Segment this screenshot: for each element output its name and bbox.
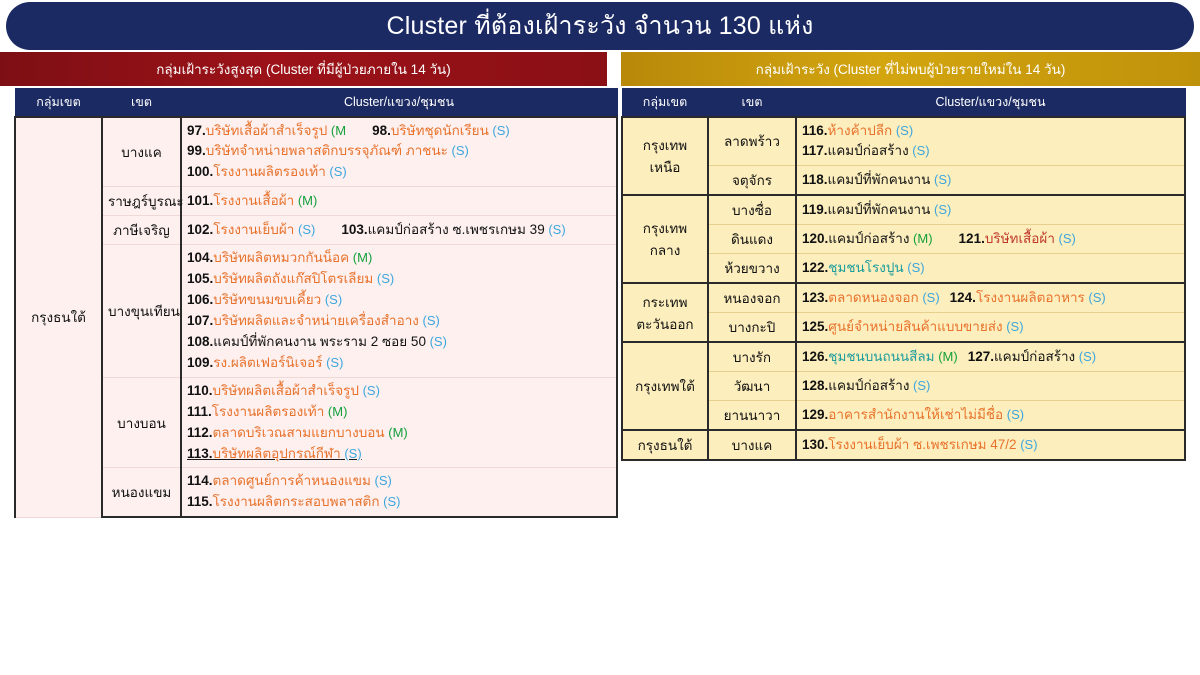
cluster-name: บริษัทชุดนักเรียน [391, 123, 489, 138]
banner-high-surveillance-label: กลุ่มเฝ้าระวังสูงสุด (Cluster ที่มีผู้ป่… [156, 58, 451, 80]
district-cell: ห้วยขวาง [708, 254, 796, 284]
cluster-entry: 111.โรงงานผลิตรองเท้า (M) [187, 404, 347, 419]
severity-badge: (S) [1017, 437, 1038, 452]
cluster-number: 111. [187, 404, 212, 419]
district-group-cell: กรุงเทพเหนือ [622, 117, 708, 196]
cluster-number: 101. [187, 193, 213, 208]
cluster-number: 121. [959, 231, 985, 246]
cluster-cell: 110.บริษัทผลิตเสื้อผ้าสำเร็จรูป (S)111.โ… [181, 377, 617, 468]
cluster-line: 107.บริษัทผลิตและจำหน่ายเครื่องสำอาง (S) [187, 311, 611, 332]
district-cell: หนองแขม [102, 468, 181, 517]
district-group-cell: กรุงธนใต้ [622, 430, 708, 460]
cluster-name: แคมป์ก่อสร้าง [828, 143, 909, 158]
cluster-number: 116. [802, 123, 828, 138]
cluster-name: บริษัทผลิตถังแก๊สปิโตรเลียม [213, 271, 373, 286]
cluster-line: 108.แคมป์ที่พักคนงาน พระราม 2 ซอย 50 (S) [187, 332, 611, 353]
cluster-number: 108. [187, 334, 213, 349]
severity-badge: (S) [426, 334, 447, 349]
cluster-name: ห้างค้าปลีก [828, 123, 893, 138]
cluster-name: โรงงานผลิตรองเท้า [212, 404, 325, 419]
cluster-entry: 119.แคมป์ที่พักคนงาน (S) [802, 202, 951, 217]
table-row: กรุงธนใต้บางแค97.บริษัทเสื้อผ้าสำเร็จรูป… [15, 117, 617, 187]
district-cell: บางบอน [102, 377, 181, 468]
cluster-cell: 101.โรงงานเสื้อผ้า (M) [181, 187, 617, 216]
cluster-cell: 116.ห้างค้าปลีก (S)117.แคมป์ก่อสร้าง (S) [796, 117, 1185, 166]
severity-badge: (S) [904, 260, 925, 275]
cluster-line: 114.ตลาดศูนย์การค้าหนองแขม (S) [187, 471, 611, 492]
cluster-name: แคมป์ที่พักคนงาน [828, 172, 931, 187]
severity-badge: (M) [349, 250, 372, 265]
cluster-number: 126. [802, 349, 828, 364]
cluster-entry: 108.แคมป์ที่พักคนงาน พระราม 2 ซอย 50 (S) [187, 334, 447, 349]
cluster-entry: 121.บริษัทเสื้อผ้า (S) [959, 231, 1076, 246]
cluster-line: 120.แคมป์ก่อสร้าง (M)121.บริษัทเสื้อผ้า … [802, 229, 1179, 250]
surveillance-table: กลุ่มเขต เขต Cluster/แขวง/ชุมชน กรุงเทพเ… [621, 88, 1186, 461]
severity-badge: (S) [489, 123, 510, 138]
cluster-number: 125. [802, 319, 828, 334]
cluster-entry: 115.โรงงานผลิตกระสอบพลาสติก (S) [187, 494, 400, 509]
cluster-number: 109. [187, 355, 213, 370]
cluster-name: บริษัทเสื้อผ้าสำเร็จรูป [206, 123, 328, 138]
severity-badge: (S) [1003, 407, 1024, 422]
cluster-cell: 123.ตลาดหนองจอก (S)124.โรงงานผลิตอาหาร (… [796, 283, 1185, 313]
cluster-entry: 104.บริษัทผลิตหมวกกันน็อค (M) [187, 250, 372, 265]
severity-badge: (S) [909, 143, 930, 158]
severity-badge: (S) [545, 222, 566, 237]
table-row: ราษฎร์บูรณะ101.โรงงานเสื้อผ้า (M) [15, 187, 617, 216]
cluster-entry: 103.แคมป์ก่อสร้าง ซ.เพชรเกษม 39 (S) [341, 222, 565, 237]
cluster-name: แคมป์ที่พักคนงาน [828, 202, 931, 217]
cluster-entry: 128.แคมป์ก่อสร้าง (S) [802, 378, 930, 393]
cluster-number: 128. [802, 378, 828, 393]
cluster-cell: 119.แคมป์ที่พักคนงาน (S) [796, 195, 1185, 225]
cluster-line: 129.อาคารสำนักงานให้เช่าไม่มีชื่อ (S) [802, 405, 1179, 426]
cluster-entry: 118.แคมป์ที่พักคนงาน (S) [802, 172, 951, 187]
cluster-name: โรงงานผลิตอาหาร [976, 290, 1085, 305]
cluster-line: 126.ชุมชนบนถนนสีลม (M)127.แคมป์ก่อสร้าง … [802, 347, 1179, 368]
severity-badge: (M) [909, 231, 932, 246]
severity-badge: (S) [321, 292, 342, 307]
cluster-line: 119.แคมป์ที่พักคนงาน (S) [802, 200, 1179, 221]
severity-badge: (S) [380, 494, 401, 509]
banner-surveillance-label: กลุ่มเฝ้าระวัง (Cluster ที่ไม่พบผู้ป่วยร… [756, 58, 1066, 80]
severity-badge: (S) [419, 313, 440, 328]
cluster-entry: 99.บริษัทจำหน่ายพลาสติกบรรจุภัณฑ์ ภาชนะ … [187, 143, 469, 158]
table-row: กระเทพตะวันออกหนองจอก123.ตลาดหนองจอก (S)… [622, 283, 1185, 313]
cluster-name: ชุมชนบนถนนสีลม [828, 349, 934, 364]
cluster-number: 114. [187, 473, 213, 488]
severity-badge: (M) [294, 193, 317, 208]
severity-badge: (S) [294, 222, 315, 237]
cluster-cell: 102.โรงงานเย็บผ้า (S)103.แคมป์ก่อสร้าง ซ… [181, 216, 617, 245]
banner-divider [607, 52, 621, 86]
cluster-name: แคมป์ก่อสร้าง [994, 349, 1075, 364]
severity-badge: (S) [930, 172, 951, 187]
severity-badge: (S) [326, 164, 347, 179]
banner-high-surveillance: กลุ่มเฝ้าระวังสูงสุด (Cluster ที่มีผู้ป่… [0, 52, 607, 86]
cluster-cell: 130.โรงงานเย็บผ้า ซ.เพชรเกษม 47/2 (S) [796, 430, 1185, 460]
cluster-cell: 126.ชุมชนบนถนนสีลม (M)127.แคมป์ก่อสร้าง … [796, 342, 1185, 372]
cluster-name: โรงงานเย็บผ้า ซ.เพชรเกษม 47/2 [828, 437, 1016, 452]
severity-badge: (M) [935, 349, 958, 364]
table-row: ภาษีเจริญ102.โรงงานเย็บผ้า (S)103.แคมป์ก… [15, 216, 617, 245]
page-title: Cluster ที่ต้องเฝ้าระวัง จำนวน 130 แห่ง [386, 6, 813, 46]
cluster-line: 125.ศูนย์จำหน่ายสินค้าแบบขายส่ง (S) [802, 317, 1179, 338]
cluster-name: อาคารสำนักงานให้เช่าไม่มีชื่อ [828, 407, 1003, 422]
cluster-line: 113.บริษัทผลิตอุปกรณ์กีฬา (S) [187, 444, 611, 465]
table-header-row: กลุ่มเขต เขต Cluster/แขวง/ชุมชน [15, 89, 617, 117]
table-row: กรุงเทพใต้บางรัก126.ชุมชนบนถนนสีลม (M)12… [622, 342, 1185, 372]
district-cell: บางขุนเทียน [102, 245, 181, 378]
cluster-number: 98. [372, 123, 391, 138]
severity-badge: (M) [385, 425, 408, 440]
district-cell: วัฒนา [708, 372, 796, 401]
cluster-cell: 129.อาคารสำนักงานให้เช่าไม่มีชื่อ (S) [796, 401, 1185, 431]
cluster-name: แคมป์ก่อสร้าง [828, 378, 909, 393]
column-header-district: เขต [102, 89, 181, 117]
table-row: กรุงธนใต้บางแค130.โรงงานเย็บผ้า ซ.เพชรเก… [622, 430, 1185, 460]
cluster-line: 116.ห้างค้าปลีก (S) [802, 121, 1179, 142]
cluster-line: 101.โรงงานเสื้อผ้า (M) [187, 191, 611, 212]
cluster-cell: 125.ศูนย์จำหน่ายสินค้าแบบขายส่ง (S) [796, 313, 1185, 343]
cluster-entry: 120.แคมป์ก่อสร้าง (M) [802, 231, 933, 246]
table-row: บางขุนเทียน104.บริษัทผลิตหมวกกันน็อค (M)… [15, 245, 617, 378]
cluster-number: 113. [187, 446, 213, 461]
cluster-entry: 129.อาคารสำนักงานให้เช่าไม่มีชื่อ (S) [802, 407, 1024, 422]
cluster-name: บริษัทผลิตเสื้อผ้าสำเร็จรูป [213, 383, 359, 398]
cluster-entry: 116.ห้างค้าปลีก (S) [802, 123, 913, 138]
cluster-name: โรงงานผลิตกระสอบพลาสติก [213, 494, 380, 509]
district-cell: ยานนาวา [708, 401, 796, 431]
cluster-cell: 104.บริษัทผลิตหมวกกันน็อค (M)105.บริษัทผ… [181, 245, 617, 378]
district-group-cell: กรุงธนใต้ [15, 117, 102, 518]
cluster-entry: 107.บริษัทผลิตและจำหน่ายเครื่องสำอาง (S) [187, 313, 440, 328]
column-header-group: กลุ่มเขต [622, 89, 708, 117]
cluster-number: 110. [187, 383, 213, 398]
cluster-number: 119. [802, 202, 828, 217]
severity-badge: (S) [1085, 290, 1106, 305]
cluster-number: 100. [187, 164, 213, 179]
cluster-number: 123. [802, 290, 828, 305]
cluster-entry: 102.โรงงานเย็บผ้า (S) [187, 222, 315, 237]
cluster-cell: 114.ตลาดศูนย์การค้าหนองแขม (S)115.โรงงาน… [181, 468, 617, 517]
cluster-line: 109.รง.ผลิตเฟอร์นิเจอร์ (S) [187, 353, 611, 374]
cluster-entry: 123.ตลาดหนองจอก (S) [802, 290, 940, 305]
cluster-cell: 128.แคมป์ก่อสร้าง (S) [796, 372, 1185, 401]
cluster-number: 130. [802, 437, 828, 452]
district-cell: ราษฎร์บูรณะ [102, 187, 181, 216]
severity-badge: (S) [322, 355, 343, 370]
cluster-line: 118.แคมป์ที่พักคนงาน (S) [802, 170, 1179, 191]
cluster-number: 129. [802, 407, 828, 422]
cluster-number: 97. [187, 123, 206, 138]
cluster-cell: 120.แคมป์ก่อสร้าง (M)121.บริษัทเสื้อผ้า … [796, 225, 1185, 254]
cluster-name: บริษัทจำหน่ายพลาสติกบรรจุภัณฑ์ ภาชนะ [206, 143, 448, 158]
banner-surveillance: กลุ่มเฝ้าระวัง (Cluster ที่ไม่พบผู้ป่วยร… [621, 52, 1200, 86]
table-header-row: กลุ่มเขต เขต Cluster/แขวง/ชุมชน [622, 89, 1185, 117]
cluster-name: บริษัทผลิตและจำหน่ายเครื่องสำอาง [213, 313, 419, 328]
district-cell: จตุจักร [708, 166, 796, 196]
cluster-entry: 117.แคมป์ก่อสร้าง (S) [802, 143, 930, 158]
cluster-number: 112. [187, 425, 213, 440]
cluster-entry: 130.โรงงานเย็บผ้า ซ.เพชรเกษม 47/2 (S) [802, 437, 1038, 452]
severity-badge: (M) [324, 404, 347, 419]
cluster-line: 115.โรงงานผลิตกระสอบพลาสติก (S) [187, 492, 611, 513]
severity-badge: (S) [371, 473, 392, 488]
district-group-cell: กรุงเทพกลาง [622, 195, 708, 283]
severity-badge: (S) [930, 202, 951, 217]
cluster-name: รง.ผลิตเฟอร์นิเจอร์ [213, 355, 322, 370]
cluster-entry: 112.ตลาดบริเวณสามแยกบางบอน (M) [187, 425, 408, 440]
cluster-name: แคมป์ก่อสร้าง ซ.เพชรเกษม 39 [368, 222, 545, 237]
cluster-name: บริษัทขนมขบเคี้ยว [213, 292, 321, 307]
cluster-number: 107. [187, 313, 213, 328]
table-row: กรุงเทพเหนือลาดพร้าว116.ห้างค้าปลีก (S)1… [622, 117, 1185, 166]
cluster-number: 127. [968, 349, 994, 364]
cluster-name: ศูนย์จำหน่ายสินค้าแบบขายส่ง [828, 319, 1002, 334]
cluster-entry: 100.โรงงานผลิตรองเท้า (S) [187, 164, 347, 179]
district-cell: หนองจอก [708, 283, 796, 313]
severity-badge: (S) [1075, 349, 1096, 364]
cluster-line: 112.ตลาดบริเวณสามแยกบางบอน (M) [187, 423, 611, 444]
cluster-name: ตลาดบริเวณสามแยกบางบอน [213, 425, 385, 440]
district-cell: ภาษีเจริญ [102, 216, 181, 245]
cluster-entry: 105.บริษัทผลิตถังแก๊สปิโตรเลียม (S) [187, 271, 394, 286]
cluster-entry: 110.บริษัทผลิตเสื้อผ้าสำเร็จรูป (S) [187, 383, 380, 398]
cluster-line: 104.บริษัทผลิตหมวกกันน็อค (M) [187, 248, 611, 269]
cluster-name: โรงงานเสื้อผ้า [213, 193, 294, 208]
cluster-number: 102. [187, 222, 213, 237]
district-group-cell: กระเทพตะวันออก [622, 283, 708, 342]
column-header-district: เขต [708, 89, 796, 117]
cluster-entry: 114.ตลาดศูนย์การค้าหนองแขม (S) [187, 473, 392, 488]
cluster-name: ชุมชนโรงปูน [828, 260, 903, 275]
cluster-line: 130.โรงงานเย็บผ้า ซ.เพชรเกษม 47/2 (S) [802, 435, 1179, 456]
cluster-name: บริษัทเสื้อผ้า [985, 231, 1055, 246]
cluster-line: 128.แคมป์ก่อสร้าง (S) [802, 376, 1179, 397]
table-row: บางบอน110.บริษัทผลิตเสื้อผ้าสำเร็จรูป (S… [15, 377, 617, 468]
cluster-name: บริษัทผลิตอุปกรณ์กีฬา [213, 446, 341, 461]
cluster-entry: 106.บริษัทขนมขบเคี้ยว (S) [187, 292, 342, 307]
cluster-entry: 97.บริษัทเสื้อผ้าสำเร็จรูป (M [187, 123, 346, 138]
table-row: กรุงเทพกลางบางซื่อ119.แคมป์ที่พักคนงาน (… [622, 195, 1185, 225]
column-header-group: กลุ่มเขต [15, 89, 102, 117]
cluster-number: 122. [802, 260, 828, 275]
severity-badge: (S) [1003, 319, 1024, 334]
district-cell: บางกะปิ [708, 313, 796, 343]
cluster-line: 100.โรงงานผลิตรองเท้า (S) [187, 162, 611, 183]
high-surveillance-table: กลุ่มเขต เขต Cluster/แขวง/ชุมชน กรุงธนใต… [14, 88, 618, 518]
cluster-name: ตลาดหนองจอก [828, 290, 918, 305]
cluster-number: 99. [187, 143, 206, 158]
severity-badge: (S) [448, 143, 469, 158]
cluster-number: 120. [802, 231, 828, 246]
cluster-line: 111.โรงงานผลิตรองเท้า (M) [187, 402, 611, 423]
district-group-cell: กรุงเทพใต้ [622, 342, 708, 430]
page-title-bar: Cluster ที่ต้องเฝ้าระวัง จำนวน 130 แห่ง [6, 2, 1194, 50]
cluster-line: 110.บริษัทผลิตเสื้อผ้าสำเร็จรูป (S) [187, 381, 611, 402]
severity-badge: (S) [909, 378, 930, 393]
district-cell: บางแค [708, 430, 796, 460]
category-banner-row: กลุ่มเฝ้าระวังสูงสุด (Cluster ที่มีผู้ป่… [0, 52, 1200, 86]
cluster-line: 102.โรงงานเย็บผ้า (S)103.แคมป์ก่อสร้าง ซ… [187, 220, 611, 241]
cluster-entry: 122.ชุมชนโรงปูน (S) [802, 260, 925, 275]
cluster-name: บริษัทผลิตหมวกกันน็อค [213, 250, 349, 265]
cluster-line: 122.ชุมชนโรงปูน (S) [802, 258, 1179, 279]
cluster-name: ตลาดศูนย์การค้าหนองแขม [213, 473, 371, 488]
cluster-number: 118. [802, 172, 828, 187]
column-header-cluster: Cluster/แขวง/ชุมชน [796, 89, 1185, 117]
district-cell: บางซื่อ [708, 195, 796, 225]
severity-badge: (S) [341, 446, 362, 461]
cluster-number: 104. [187, 250, 213, 265]
cluster-entry: 126.ชุมชนบนถนนสีลม (M) [802, 349, 958, 364]
district-cell: บางรัก [708, 342, 796, 372]
cluster-entry: 125.ศูนย์จำหน่ายสินค้าแบบขายส่ง (S) [802, 319, 1024, 334]
severity-badge: (S) [892, 123, 913, 138]
severity-badge: (M [327, 123, 346, 138]
cluster-entry: 101.โรงงานเสื้อผ้า (M) [187, 193, 317, 208]
column-header-cluster: Cluster/แขวง/ชุมชน [181, 89, 617, 117]
cluster-number: 115. [187, 494, 213, 509]
table-row: หนองแขม114.ตลาดศูนย์การค้าหนองแขม (S)115… [15, 468, 617, 517]
cluster-entry: 127.แคมป์ก่อสร้าง (S) [968, 349, 1096, 364]
cluster-number: 103. [341, 222, 367, 237]
cluster-line: 97.บริษัทเสื้อผ้าสำเร็จรูป (M98.บริษัทชุ… [187, 121, 611, 142]
severity-badge: (S) [373, 271, 394, 286]
district-cell: ดินแดง [708, 225, 796, 254]
cluster-entry: 98.บริษัทชุดนักเรียน (S) [372, 123, 510, 138]
cluster-cell: 118.แคมป์ที่พักคนงาน (S) [796, 166, 1185, 196]
cluster-line: 99.บริษัทจำหน่ายพลาสติกบรรจุภัณฑ์ ภาชนะ … [187, 141, 611, 162]
cluster-name: โรงงานผลิตรองเท้า [213, 164, 326, 179]
cluster-line: 105.บริษัทผลิตถังแก๊สปิโตรเลียม (S) [187, 269, 611, 290]
severity-badge: (S) [1055, 231, 1076, 246]
district-cell: ลาดพร้าว [708, 117, 796, 166]
cluster-cell: 122.ชุมชนโรงปูน (S) [796, 254, 1185, 284]
cluster-name: โรงงานเย็บผ้า [213, 222, 294, 237]
cluster-name: แคมป์ก่อสร้าง [828, 231, 909, 246]
cluster-number: 117. [802, 143, 828, 158]
cluster-entry: 124.โรงงานผลิตอาหาร (S) [950, 290, 1106, 305]
cluster-line: 106.บริษัทขนมขบเคี้ยว (S) [187, 290, 611, 311]
cluster-cell: 97.บริษัทเสื้อผ้าสำเร็จรูป (M98.บริษัทชุ… [181, 117, 617, 187]
cluster-number: 105. [187, 271, 213, 286]
cluster-number: 124. [950, 290, 976, 305]
cluster-line: 117.แคมป์ก่อสร้าง (S) [802, 141, 1179, 162]
cluster-name: แคมป์ที่พักคนงาน พระราม 2 ซอย 50 [213, 334, 426, 349]
cluster-line: 123.ตลาดหนองจอก (S)124.โรงงานผลิตอาหาร (… [802, 288, 1179, 309]
cluster-entry: 113.บริษัทผลิตอุปกรณ์กีฬา (S) [187, 446, 362, 461]
cluster-entry: 109.รง.ผลิตเฟอร์นิเจอร์ (S) [187, 355, 343, 370]
district-cell: บางแค [102, 117, 181, 187]
severity-badge: (S) [359, 383, 380, 398]
severity-badge: (S) [919, 290, 940, 305]
cluster-number: 106. [187, 292, 213, 307]
